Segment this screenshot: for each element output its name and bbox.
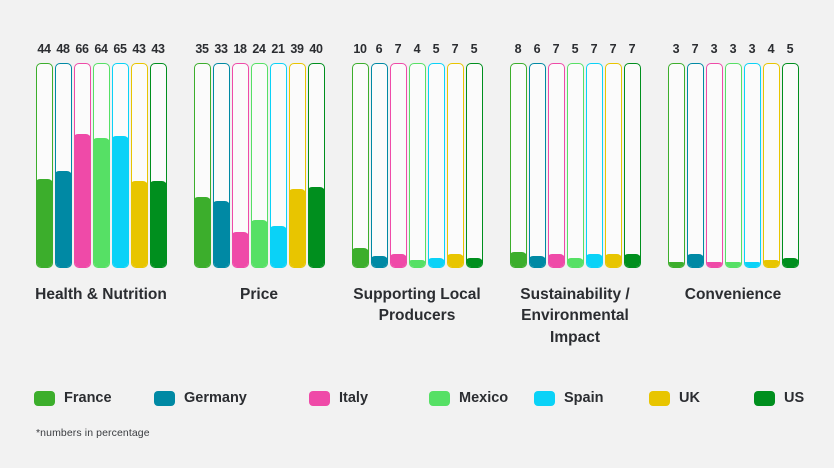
bar-value-label: 7 [553, 43, 560, 57]
bar-column[interactable]: 4 [409, 43, 426, 268]
bar-value-label: 6 [534, 43, 541, 57]
bar-column[interactable]: 44 [36, 43, 53, 268]
bar-group: 10674575Supporting Local Producers [338, 0, 496, 327]
bar-column[interactable]: 39 [289, 43, 306, 268]
chart-legend: FranceGermanyItalyMexicoSpainUKUS [34, 388, 804, 408]
bar-fill [352, 248, 369, 268]
bar-value-label: 33 [214, 43, 227, 57]
bar-value-label: 8 [515, 43, 522, 57]
bar-column[interactable]: 7 [548, 43, 565, 268]
legend-swatch-icon [754, 391, 775, 406]
bar-fill [194, 197, 211, 268]
bar-fill [55, 171, 72, 268]
bar-track[interactable] [131, 63, 148, 268]
legend-label: Germany [184, 390, 247, 406]
legend-item-france[interactable]: France [34, 390, 112, 406]
bar-track[interactable] [567, 63, 584, 268]
bar-column[interactable]: 8 [510, 43, 527, 268]
bar-fill [232, 232, 249, 268]
bar-column[interactable]: 7 [687, 43, 704, 268]
bar-fill [510, 252, 527, 268]
bar-value-label: 3 [749, 43, 756, 57]
bar-fill [93, 138, 110, 268]
bar-track[interactable] [586, 63, 603, 268]
legend-item-mexico[interactable]: Mexico [429, 390, 508, 406]
bar-fill [74, 134, 91, 268]
bar-column[interactable]: 6 [371, 43, 388, 268]
bar-track[interactable] [782, 63, 799, 268]
bar-track[interactable] [270, 63, 287, 268]
legend-item-spain[interactable]: Spain [534, 390, 603, 406]
bar-fill [529, 256, 546, 268]
bar-track[interactable] [390, 63, 407, 268]
bar-fill [131, 181, 148, 268]
bar-value-label: 66 [75, 43, 88, 57]
bar-value-label: 65 [113, 43, 126, 57]
bar-fill [371, 256, 388, 268]
bar-track[interactable] [150, 63, 167, 268]
bar-value-label: 7 [591, 43, 598, 57]
bar-column[interactable]: 3 [725, 43, 742, 268]
bar-track[interactable] [232, 63, 249, 268]
legend-label: France [64, 390, 112, 406]
bar-column[interactable]: 7 [586, 43, 603, 268]
bar-fill [112, 136, 129, 268]
bar-value-label: 3 [673, 43, 680, 57]
bar-track[interactable] [55, 63, 72, 268]
bar-value-label: 7 [629, 43, 636, 57]
bar-track[interactable] [36, 63, 53, 268]
category-label: Supporting Local Producers [342, 284, 492, 327]
category-label: Sustainability / Environmental Impact [500, 284, 650, 348]
bar-value-label: 21 [271, 43, 284, 57]
legend-swatch-icon [309, 391, 330, 406]
bar-track[interactable] [371, 63, 388, 268]
category-label: Health & Nutrition [35, 284, 167, 305]
bar-column[interactable]: 5 [428, 43, 445, 268]
bar-track[interactable] [763, 63, 780, 268]
legend-label: UK [679, 390, 700, 406]
bar-fill [409, 260, 426, 268]
bar-value-label: 24 [252, 43, 265, 57]
bar-track[interactable] [725, 63, 742, 268]
bar-fill [605, 254, 622, 268]
category-label: Convenience [685, 284, 781, 305]
bar-fill [466, 258, 483, 268]
bar-fill [36, 179, 53, 268]
bar-value-label: 5 [471, 43, 478, 57]
bar-column[interactable]: 48 [55, 43, 72, 268]
bar-value-label: 5 [433, 43, 440, 57]
bar-column[interactable]: 7 [390, 43, 407, 268]
bar-column[interactable]: 5 [466, 43, 483, 268]
bar-group: 8675777Sustainability / Environmental Im… [496, 0, 654, 348]
bar-track[interactable] [194, 63, 211, 268]
bar-fill [586, 254, 603, 268]
bar-column[interactable]: 6 [529, 43, 546, 268]
bar-track[interactable] [409, 63, 426, 268]
bar-group-bars: 35331824213940 [194, 0, 325, 268]
bar-fill [782, 258, 799, 268]
bar-value-label: 3 [730, 43, 737, 57]
bar-track[interactable] [510, 63, 527, 268]
bar-value-label: 43 [151, 43, 164, 57]
legend-swatch-icon [154, 391, 175, 406]
bar-fill [725, 262, 742, 268]
plot-area: 44486664654343Health & Nutrition35331824… [0, 0, 834, 345]
bar-fill [744, 262, 761, 268]
bar-group: 3733345Convenience [654, 0, 812, 305]
bar-column[interactable]: 5 [782, 43, 799, 268]
chart-footnote: *numbers in percentage [36, 427, 150, 439]
bar-track[interactable] [466, 63, 483, 268]
bar-value-label: 35 [195, 43, 208, 57]
bar-column[interactable]: 43 [150, 43, 167, 268]
bar-value-label: 48 [56, 43, 69, 57]
legend-label: Mexico [459, 390, 508, 406]
bar-group: 35331824213940Price [180, 0, 338, 305]
bar-column[interactable]: 43 [131, 43, 148, 268]
bar-fill [289, 189, 306, 268]
bar-column[interactable]: 4 [763, 43, 780, 268]
bar-value-label: 44 [37, 43, 50, 57]
category-label: Price [240, 284, 278, 305]
bar-fill [213, 201, 230, 268]
legend-swatch-icon [649, 391, 670, 406]
chart-container: 44486664654343Health & Nutrition35331824… [0, 0, 834, 468]
bar-column[interactable]: 18 [232, 43, 249, 268]
bar-value-label: 40 [309, 43, 322, 57]
bar-column[interactable]: 65 [112, 43, 129, 268]
legend-item-uk[interactable]: UK [649, 390, 700, 406]
bar-fill [548, 254, 565, 268]
bar-track[interactable] [687, 63, 704, 268]
bar-track[interactable] [251, 63, 268, 268]
bar-value-label: 3 [711, 43, 718, 57]
legend-item-italy[interactable]: Italy [309, 390, 368, 406]
legend-label: Italy [339, 390, 368, 406]
bar-column[interactable]: 64 [93, 43, 110, 268]
bar-track[interactable] [548, 63, 565, 268]
bar-fill [270, 226, 287, 268]
bar-fill [687, 254, 704, 268]
bar-fill [150, 181, 167, 268]
bar-column[interactable]: 66 [74, 43, 91, 268]
bar-track[interactable] [308, 63, 325, 268]
bar-value-label: 6 [376, 43, 383, 57]
bar-track[interactable] [428, 63, 445, 268]
bar-fill [706, 262, 723, 268]
bar-track[interactable] [605, 63, 622, 268]
bar-track[interactable] [668, 63, 685, 268]
bar-value-label: 18 [233, 43, 246, 57]
bar-column[interactable]: 7 [624, 43, 641, 268]
legend-swatch-icon [34, 391, 55, 406]
bar-track[interactable] [74, 63, 91, 268]
bar-group: 44486664654343Health & Nutrition [22, 0, 180, 305]
bar-value-label: 7 [452, 43, 459, 57]
bar-group-bars: 8675777 [510, 0, 641, 268]
bar-track[interactable] [93, 63, 110, 268]
bar-fill [308, 187, 325, 268]
bar-column[interactable]: 3 [706, 43, 723, 268]
bar-value-label: 5 [787, 43, 794, 57]
bar-fill [390, 254, 407, 268]
legend-swatch-icon [429, 391, 450, 406]
bar-group-bars: 44486664654343 [36, 0, 167, 268]
bar-value-label: 5 [572, 43, 579, 57]
legend-swatch-icon [534, 391, 555, 406]
bar-fill [251, 220, 268, 268]
bar-track[interactable] [447, 63, 464, 268]
bar-column[interactable]: 40 [308, 43, 325, 268]
legend-item-us[interactable]: US [754, 390, 804, 406]
bar-value-label: 7 [610, 43, 617, 57]
bar-group-bars: 3733345 [668, 0, 799, 268]
bar-track[interactable] [529, 63, 546, 268]
bar-value-label: 7 [395, 43, 402, 57]
bar-column[interactable]: 7 [605, 43, 622, 268]
bar-track[interactable] [352, 63, 369, 268]
bar-value-label: 10 [353, 43, 366, 57]
legend-label: Spain [564, 390, 603, 406]
bar-column[interactable]: 3 [668, 43, 685, 268]
bar-track[interactable] [706, 63, 723, 268]
bar-value-label: 4 [414, 43, 421, 57]
bar-column[interactable]: 5 [567, 43, 584, 268]
bar-column[interactable]: 24 [251, 43, 268, 268]
bar-track[interactable] [289, 63, 306, 268]
bar-fill [428, 258, 445, 268]
bar-column[interactable]: 21 [270, 43, 287, 268]
bar-track[interactable] [112, 63, 129, 268]
legend-label: US [784, 390, 804, 406]
bar-fill [668, 262, 685, 268]
bar-group-bars: 10674575 [352, 0, 483, 268]
bar-column[interactable]: 10 [352, 43, 369, 268]
bar-column[interactable]: 7 [447, 43, 464, 268]
bar-track[interactable] [624, 63, 641, 268]
bar-track[interactable] [744, 63, 761, 268]
bar-fill [567, 258, 584, 268]
bar-value-label: 64 [94, 43, 107, 57]
bar-fill [447, 254, 464, 268]
bar-column[interactable]: 33 [213, 43, 230, 268]
bar-fill [763, 260, 780, 268]
bar-value-label: 4 [768, 43, 775, 57]
bar-column[interactable]: 3 [744, 43, 761, 268]
bar-value-label: 39 [290, 43, 303, 57]
bar-value-label: 7 [692, 43, 699, 57]
legend-item-germany[interactable]: Germany [154, 390, 247, 406]
bar-fill [624, 254, 641, 268]
bar-column[interactable]: 35 [194, 43, 211, 268]
bar-track[interactable] [213, 63, 230, 268]
bar-value-label: 43 [132, 43, 145, 57]
